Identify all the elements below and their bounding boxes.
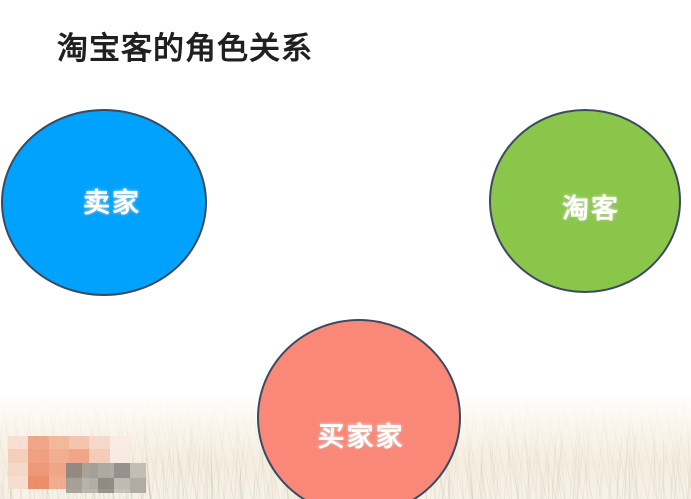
slide-canvas: 淘宝客的角色关系 卖家 淘客 买家家 [0,0,691,499]
mosaic-tile [114,463,130,478]
mosaic-tile [82,478,98,493]
mosaic-tile [49,449,69,462]
mosaic-tile [130,463,146,478]
mosaic-tile [8,449,28,462]
mosaic-tile [114,478,130,493]
grass-blade [211,469,212,499]
page-title: 淘宝客的角色关系 [57,30,313,69]
mosaic-tile [69,436,89,449]
mosaic-tile [66,478,82,493]
mosaic-tile [28,476,48,489]
mosaic-tile [82,463,98,478]
mosaic-tile [8,476,28,489]
node-buyer-label: 买家家 [318,415,405,454]
mosaic-tile [66,463,82,478]
mosaic-tile [69,449,89,462]
node-seller[interactable]: 卖家 [1,109,207,296]
node-promoter[interactable]: 淘客 [489,109,681,293]
mosaic-tile [8,463,28,476]
mosaic-tile [89,449,109,462]
node-seller-label: 卖家 [83,181,141,220]
mosaic-tile [110,449,130,462]
mosaic-tile [28,449,48,462]
censored-watermark-mosaic-secondary [66,463,146,493]
mosaic-tile [98,463,114,478]
mosaic-tile [28,436,48,449]
mosaic-tile [49,436,69,449]
node-promoter-label: 淘客 [562,187,620,226]
mosaic-tile [28,463,48,476]
mosaic-tile [98,478,114,493]
mosaic-tile [130,478,146,493]
mosaic-tile [110,436,130,449]
mosaic-tile [89,436,109,449]
mosaic-tile [8,436,28,449]
